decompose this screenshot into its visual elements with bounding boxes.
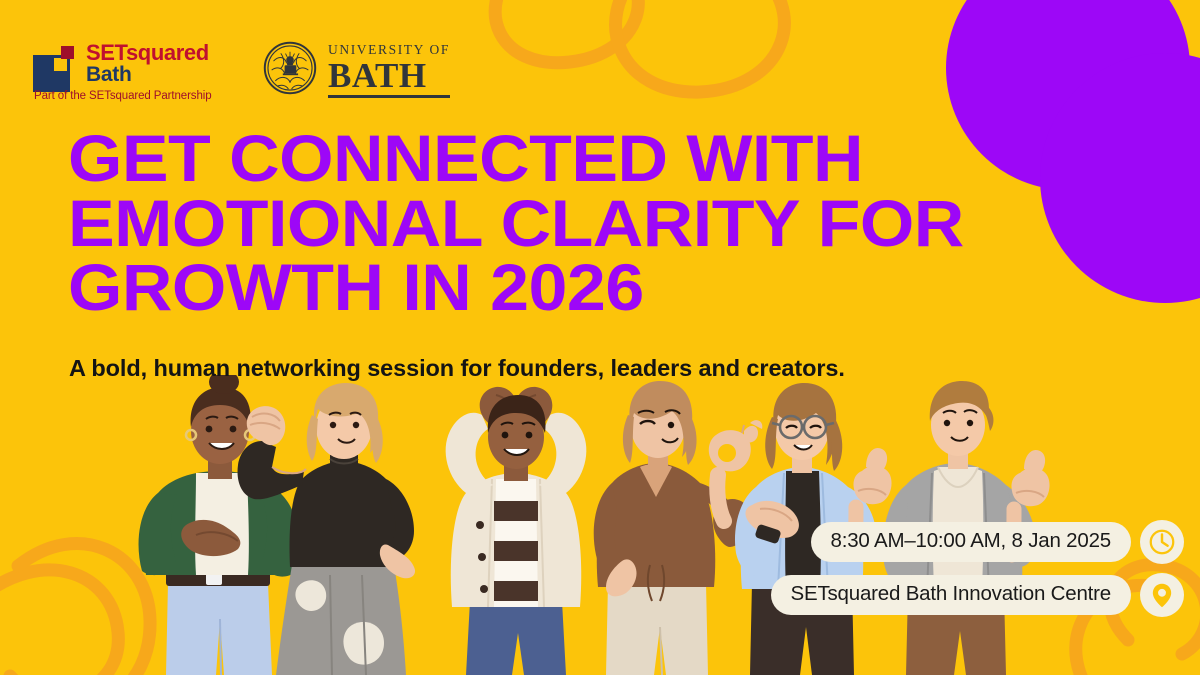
setsquared-bath-logo: SETsquared Bath Part of the SETsquared P… [33,38,229,108]
bath-wordmark: UNIVERSITY OF BATH [328,38,450,98]
event-location-pill: SETsquared Bath Innovation Centre [771,575,1131,615]
headline-line-1: GET CONNECTED WITH [68,126,964,191]
headline-line-2: EMOTIONAL CLARITY FOR [68,191,964,256]
headline-line-3: GROWTH IN 2026 [68,255,964,320]
bath-line-bath: BATH [328,58,450,94]
event-details: 8:30 AM–10:00 AM, 8 Jan 2025 SETsquared … [771,520,1184,617]
event-poster: SETsquared Bath Part of the SETsquared P… [0,0,1200,675]
event-time-pill: 8:30 AM–10:00 AM, 8 Jan 2025 [811,522,1131,562]
setsquared-mark-icon [33,46,79,92]
page-title: GET CONNECTED WITH EMOTIONAL CLARITY FOR… [68,126,964,320]
event-detail-location: SETsquared Bath Innovation Centre [771,573,1184,617]
setsquared-wordmark: SETsquared Bath [86,42,209,86]
page-subtitle: A bold, human networking session for fou… [69,355,845,382]
location-pin-icon [1140,573,1184,617]
logo-bar: SETsquared Bath Part of the SETsquared P… [33,38,438,108]
setsquared-word-sub: Bath [86,64,209,86]
event-detail-time: 8:30 AM–10:00 AM, 8 Jan 2025 [811,520,1184,564]
setsquared-tagline: Part of the SETsquared Partnership [34,90,212,102]
bath-underline-rule [328,95,450,98]
bath-line-university: UNIVERSITY OF [328,43,450,57]
clock-icon [1140,520,1184,564]
bath-crest-icon [263,41,317,95]
university-of-bath-logo: UNIVERSITY OF BATH [263,38,438,106]
figure-cream-jacket [446,387,587,675]
setsquared-word-top: SETsquared [86,42,209,64]
